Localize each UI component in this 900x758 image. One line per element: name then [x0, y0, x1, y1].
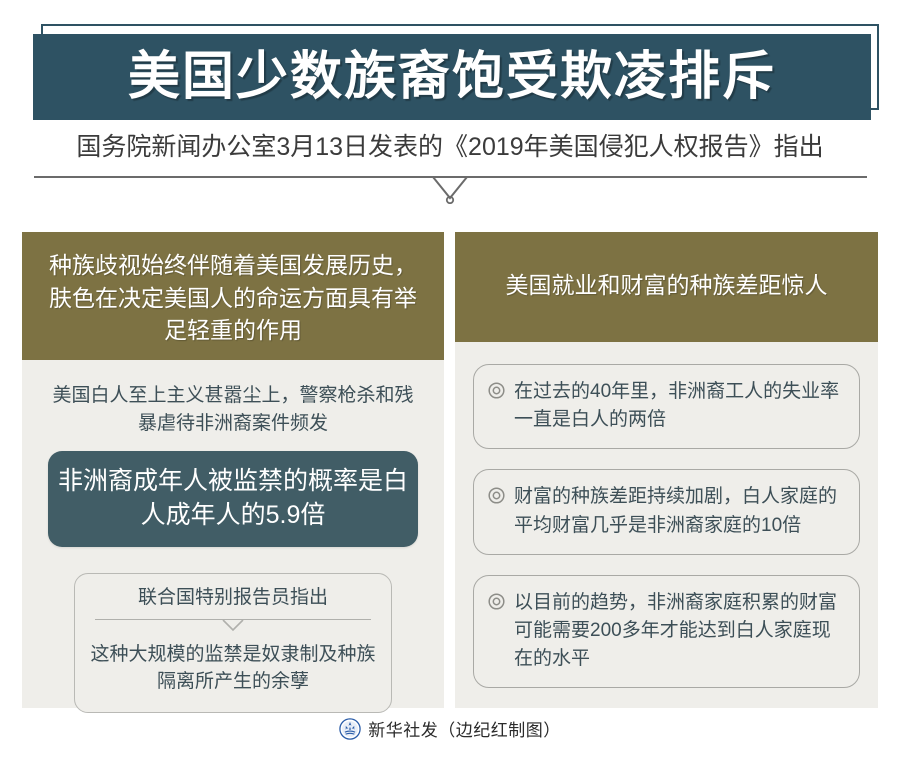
right-panel-header: 美国就业和财富的种族差距惊人 [455, 232, 878, 342]
footer-credit-text: 新华社发（边纪红制图） [368, 716, 561, 741]
statistic-highlight-box: 非洲裔成年人被监禁的概率是白人成年人的5.9倍 [48, 451, 418, 547]
list-item-text: 财富的种族差距持续加剧，白人家庭的平均财富几乎是非洲裔家庭的10倍 [514, 483, 843, 539]
left-panel-lead-text: 美国白人至上主义甚嚣尘上，警察枪杀和残暴虐待非洲裔案件频发 [40, 360, 426, 447]
un-rapporteur-quote-box: 联合国特别报告员指出 这种大规模的监禁是奴隶制及种族隔离所产生的余孽 [74, 573, 392, 713]
quote-divider [95, 619, 371, 633]
left-panel-body: 美国白人至上主义甚嚣尘上，警察枪杀和残暴虐待非洲裔案件频发 非洲裔成年人被监禁的… [22, 360, 444, 713]
list-item-text: 在过去的40年里，非洲裔工人的失业率一直是白人的两倍 [514, 378, 843, 434]
chevron-down-icon [431, 176, 469, 204]
subtitle-section: 国务院新闻办公室3月13日发表的《2019年美国侵犯人权报告》指出 [0, 132, 900, 162]
title-section: 美国少数族裔饱受欺凌排斥 [0, 0, 900, 130]
right-panel: 美国就业和财富的种族差距惊人 在过去的40年里，非洲裔工人的失业率一直是白人的两… [455, 232, 878, 708]
double-circle-bullet-icon [488, 487, 505, 504]
footer: 新华社发（边纪红制图） [0, 716, 900, 741]
xinhua-logo-icon [339, 718, 361, 740]
chevron-down-small-icon [220, 619, 246, 633]
quote-body-text: 这种大规模的监禁是奴隶制及种族隔离所产生的余孽 [87, 637, 379, 696]
double-circle-bullet-icon [488, 382, 505, 399]
quote-source-label: 联合国特别报告员指出 [87, 586, 379, 619]
content-columns: 种族歧视始终伴随着美国发展历史，肤色在决定美国人的命运方面具有举足轻重的作用 美… [22, 232, 878, 708]
left-panel-header: 种族歧视始终伴随着美国发展历史，肤色在决定美国人的命运方面具有举足轻重的作用 [22, 232, 444, 360]
list-item-text: 以目前的趋势，非洲裔家庭积累的财富可能需要200多年才能达到白人家庭现在的水平 [514, 589, 843, 673]
list-item: 以目前的趋势，非洲裔家庭积累的财富可能需要200多年才能达到白人家庭现在的水平 [473, 575, 860, 688]
list-item: 在过去的40年里，非洲裔工人的失业率一直是白人的两倍 [473, 364, 860, 449]
list-item: 财富的种族差距持续加剧，白人家庭的平均财富几乎是非洲裔家庭的10倍 [473, 469, 860, 554]
subtitle-text: 国务院新闻办公室3月13日发表的《2019年美国侵犯人权报告》指出 [0, 132, 900, 162]
title-banner: 美国少数族裔饱受欺凌排斥 [33, 34, 871, 120]
page-title: 美国少数族裔饱受欺凌排斥 [128, 51, 776, 103]
double-circle-bullet-icon [488, 593, 505, 610]
left-panel: 种族歧视始终伴随着美国发展历史，肤色在决定美国人的命运方面具有举足轻重的作用 美… [22, 232, 444, 708]
right-panel-body: 在过去的40年里，非洲裔工人的失业率一直是白人的两倍 财富的种族差距持续加剧，白… [455, 342, 878, 708]
bullet-list: 在过去的40年里，非洲裔工人的失业率一直是白人的两倍 财富的种族差距持续加剧，白… [473, 342, 860, 688]
